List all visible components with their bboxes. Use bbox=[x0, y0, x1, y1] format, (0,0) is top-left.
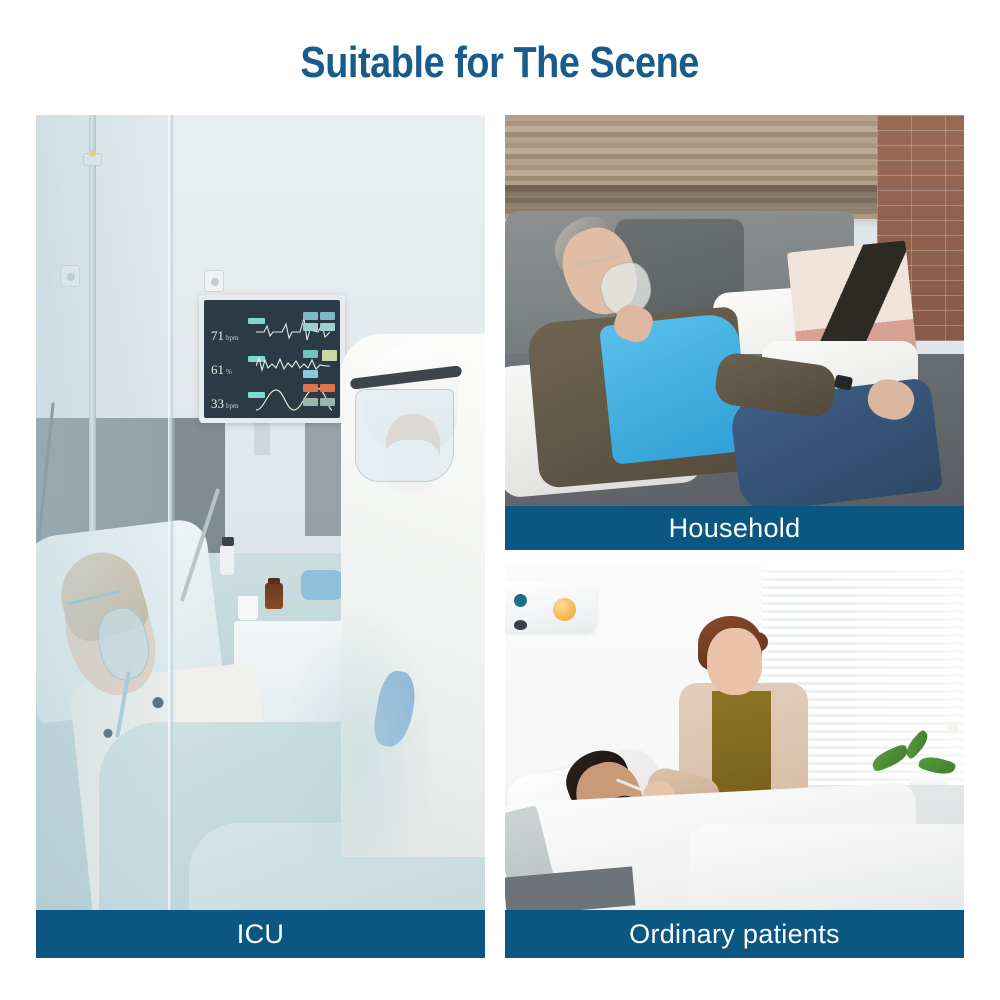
monitor-reading-value: 71 bbox=[211, 328, 224, 343]
iv-pole-indicator-icon bbox=[89, 150, 96, 157]
wall-outlet-icon bbox=[60, 265, 80, 287]
face-shield-icon bbox=[355, 389, 454, 482]
scene-card-ordinary-patients[interactable]: Ordinary patients bbox=[505, 565, 964, 958]
scene-caption-household: Household bbox=[505, 506, 964, 550]
scene-caption-icu: ICU bbox=[36, 910, 485, 958]
monitor-reading-value: 33 bbox=[211, 396, 224, 411]
page-title-container: Suitable for The Scene bbox=[0, 38, 1000, 88]
vital-signs-monitor: 71bpm 61% 33bpm bbox=[199, 295, 345, 423]
scene-caption-label: ICU bbox=[237, 919, 284, 950]
medicine-bottle-icon bbox=[265, 583, 283, 609]
water-jug-icon bbox=[301, 570, 347, 600]
product-feature-graphic: Suitable for The Scene bbox=[0, 0, 1000, 1000]
monitor-reading-respiration: 33bpm bbox=[211, 396, 238, 412]
monitor-reading-unit: bpm bbox=[226, 402, 238, 410]
monitor-side-panel bbox=[303, 310, 337, 418]
monitor-reading-unit: % bbox=[226, 368, 232, 376]
monitor-stand bbox=[254, 421, 270, 455]
glass-partition-edge bbox=[168, 115, 173, 958]
page-title: Suitable for The Scene bbox=[301, 38, 699, 88]
monitor-reading-unit: bpm bbox=[226, 334, 238, 342]
gas-port-dark-icon bbox=[514, 620, 527, 630]
caregiver-head bbox=[707, 628, 762, 695]
scene-grid: 71bpm 61% 33bpm bbox=[36, 115, 964, 958]
scene-column-left: 71bpm 61% 33bpm bbox=[36, 115, 485, 958]
sanitizer-pump-icon bbox=[220, 545, 234, 575]
monitor-screen: 71bpm 61% 33bpm bbox=[204, 300, 340, 418]
scene-column-right: Household bbox=[505, 115, 964, 958]
scene-caption-label: Household bbox=[669, 513, 801, 544]
icu-photo: 71bpm 61% 33bpm bbox=[36, 115, 485, 958]
monitor-reading-heart-rate: 71bpm bbox=[211, 328, 238, 344]
paper-cup bbox=[238, 596, 258, 620]
monitor-reading-spo2: 61% bbox=[211, 362, 232, 378]
scene-caption-ordinary-patients: Ordinary patients bbox=[505, 910, 964, 958]
wall-outlet-icon bbox=[204, 270, 224, 292]
monitor-reading-value: 61 bbox=[211, 362, 224, 377]
scene-card-household[interactable]: Household bbox=[505, 115, 964, 550]
household-photo bbox=[505, 115, 964, 550]
scene-caption-label: Ordinary patients bbox=[629, 919, 840, 950]
scene-card-icu[interactable]: 71bpm 61% 33bpm bbox=[36, 115, 485, 958]
ordinary-patients-photo bbox=[505, 565, 964, 958]
